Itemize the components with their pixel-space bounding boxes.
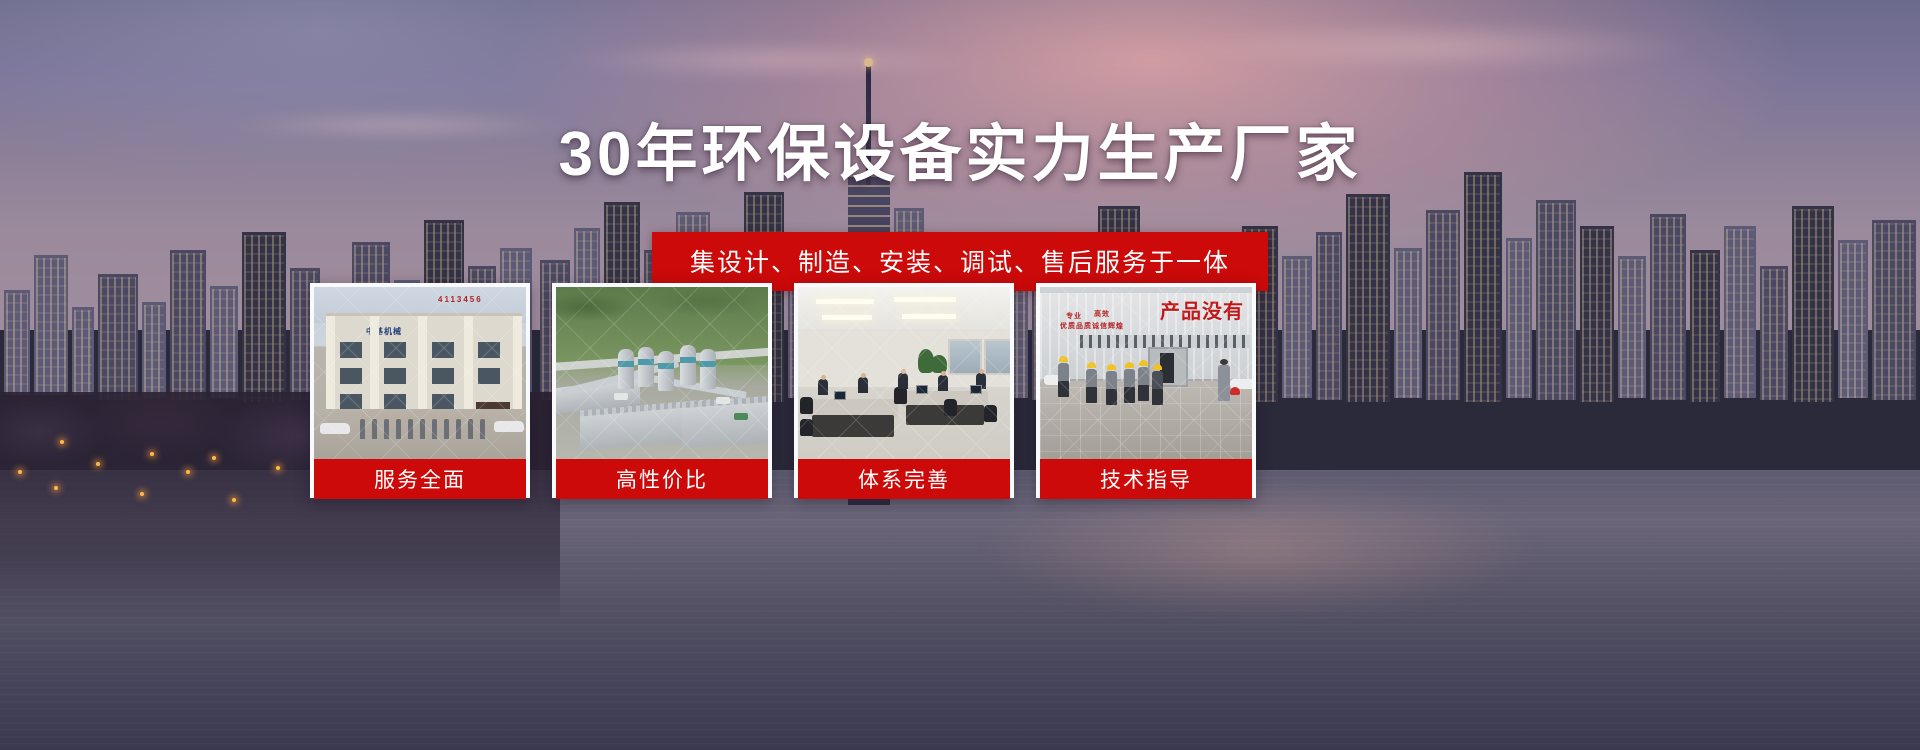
building-phone-number: 4113456 — [438, 295, 483, 304]
hero-banner: 30年环保设备实力生产厂家 集设计、制造、安装、调试、售后服务于一体 中基机械 — [0, 0, 1920, 750]
card-label: 技术指导 — [1040, 459, 1252, 499]
factory-slogan-1: 专业 — [1066, 311, 1082, 321]
card-photo — [798, 287, 1010, 459]
feature-card[interactable]: 产品没有 专业 高效 优质品质 诚信辉煌 — [1036, 283, 1256, 498]
page-title: 30年环保设备实力生产厂家 — [0, 103, 1920, 193]
card-photo: 产品没有 专业 高效 优质品质 诚信辉煌 — [1040, 287, 1252, 459]
card-label: 服务全面 — [314, 459, 526, 499]
card-photo — [556, 287, 768, 459]
factory-slogan-4: 诚信辉煌 — [1092, 321, 1124, 331]
card-photo: 中基机械 — [314, 287, 526, 459]
factory-banner-text: 产品没有 — [1160, 295, 1244, 324]
feature-card[interactable]: 高性价比 — [552, 283, 772, 498]
feature-card[interactable]: 中基机械 — [310, 283, 530, 498]
card-label: 体系完善 — [798, 459, 1010, 499]
factory-slogan-2: 高效 — [1094, 309, 1110, 319]
feature-card[interactable]: 体系完善 — [794, 283, 1014, 498]
factory-slogan-3: 优质品质 — [1060, 321, 1092, 331]
card-label: 高性价比 — [556, 459, 768, 499]
tower-beacon — [864, 58, 873, 67]
feature-card-list: 中基机械 — [310, 283, 1555, 498]
